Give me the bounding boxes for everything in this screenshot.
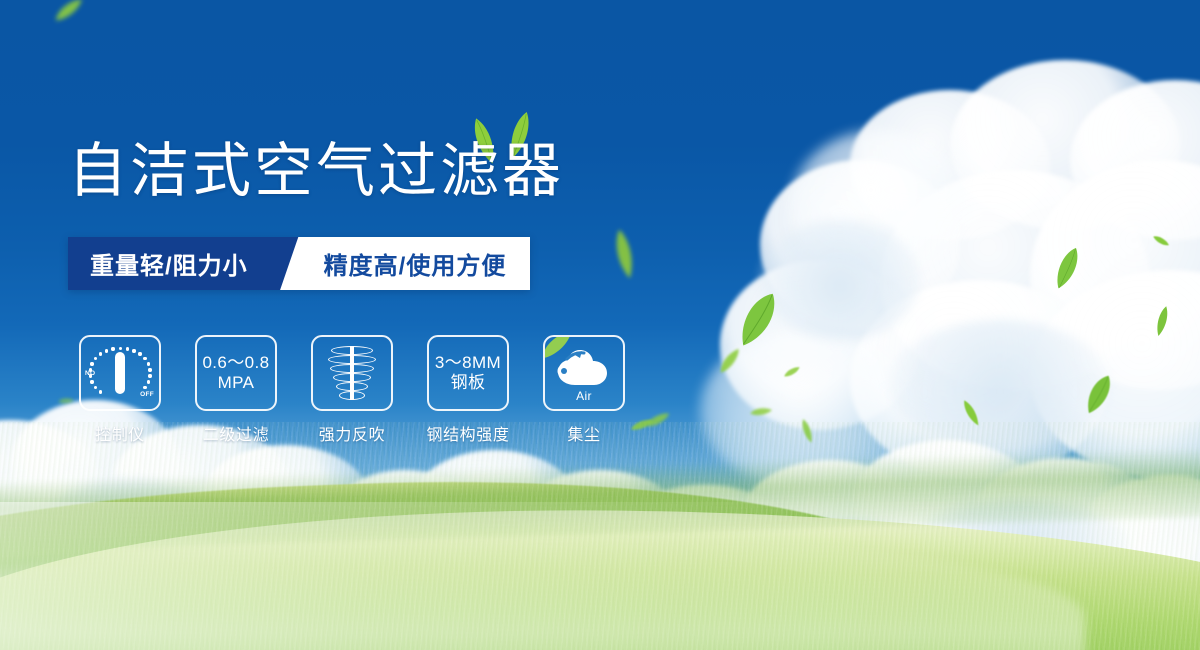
- control-dial-icon: NO OFF: [85, 341, 155, 405]
- feature-label: 二级过滤: [190, 421, 282, 445]
- feature-item-control[interactable]: NO OFF 控制仪: [74, 335, 166, 445]
- feature-icon-box: NO OFF: [79, 335, 161, 411]
- feature-item-backblow[interactable]: 强力反吹: [306, 335, 398, 445]
- feature-item-steel[interactable]: 3～8MM 钢板 钢结构强度: [422, 335, 514, 445]
- page-title: 自洁式空气过滤器: [68, 142, 564, 201]
- back-blow-icon: [325, 344, 379, 402]
- feature-label: 集尘: [538, 421, 630, 445]
- subtitle-left-text: 重量轻/阻力小: [68, 237, 278, 290]
- dial-needle: [115, 352, 125, 394]
- air-cloud-icon: Air: [553, 345, 615, 401]
- feature-icon-box: 0.6～0.8 MPA: [195, 335, 277, 411]
- dial-off-label: OFF: [140, 391, 154, 398]
- pressure-text-icon: 0.6～0.8 MPA: [202, 353, 269, 392]
- feature-icon-box: Air: [543, 335, 625, 411]
- dial-on-label: NO: [85, 370, 95, 377]
- feature-icon-box: 3～8MM 钢板: [427, 335, 509, 411]
- subtitle-divider: [278, 237, 306, 290]
- feature-icon-box: [311, 335, 393, 411]
- feature-label: 强力反吹: [306, 421, 398, 445]
- feature-item-pressure[interactable]: 0.6～0.8 MPA 二级过滤: [190, 335, 282, 445]
- grass-sheen: [0, 502, 1200, 650]
- subtitle-bar: 重量轻/阻力小 精度高/使用方便: [68, 237, 530, 290]
- feature-label: 钢结构强度: [422, 421, 514, 445]
- air-label: Air: [553, 389, 615, 403]
- feature-list: NO OFF 控制仪 0.6～0.8 MPA 二级过滤: [74, 335, 630, 445]
- feature-item-dust[interactable]: Air 集尘: [538, 335, 630, 445]
- grass-field: [0, 412, 1200, 650]
- subtitle-right-text: 精度高/使用方便: [306, 237, 531, 290]
- banner-hero: 自洁式空气过滤器 重量轻/阻力小 精度高/使用方便: [0, 0, 1200, 650]
- feature-label: 控制仪: [74, 421, 166, 445]
- steel-plate-text-icon: 3～8MM 钢板: [435, 353, 501, 392]
